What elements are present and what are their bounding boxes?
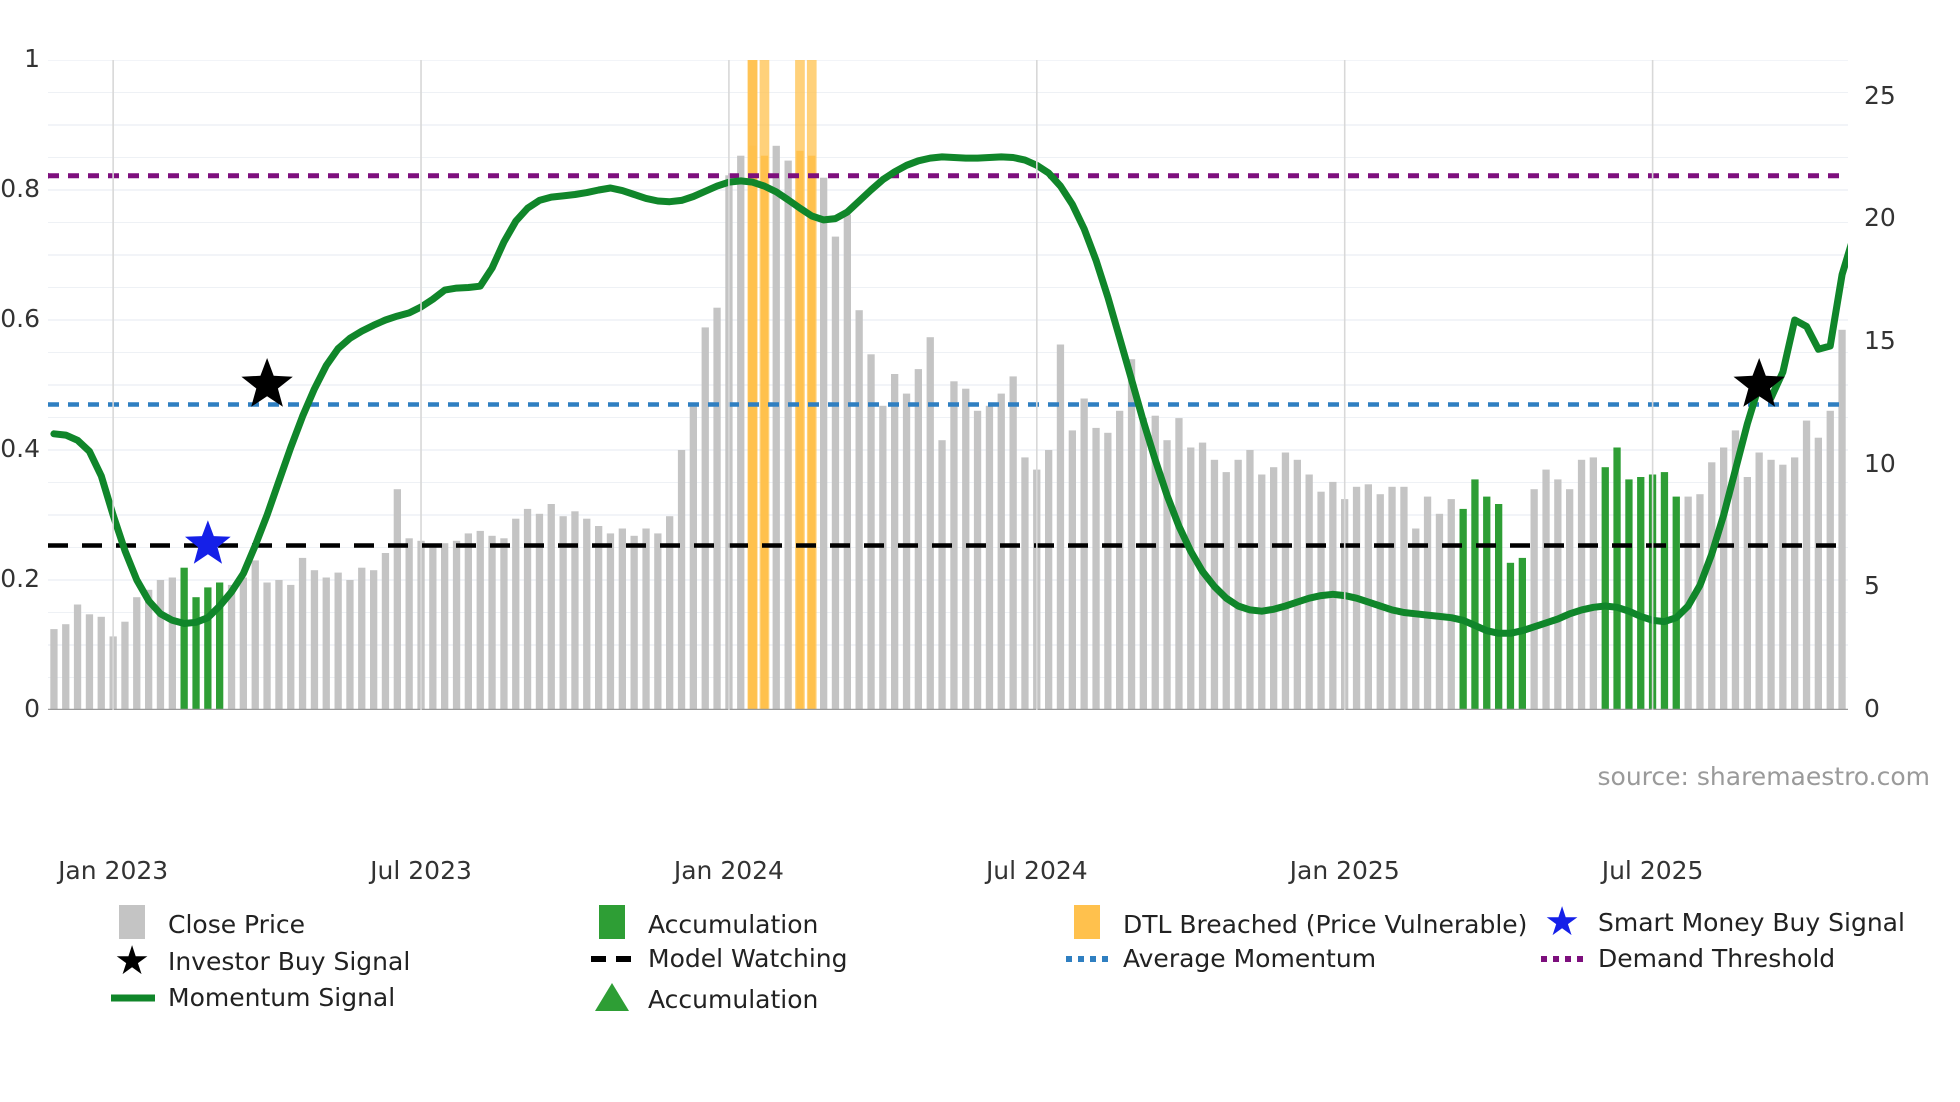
- close-price-bar: [86, 614, 93, 710]
- close-price-bar: [1838, 330, 1845, 710]
- accumulation-bar: [204, 587, 211, 710]
- close-price-bar: [524, 509, 531, 710]
- close-price-bar: [1116, 411, 1123, 710]
- close-price-bar: [1708, 462, 1715, 710]
- accumulation-bar: [1661, 472, 1668, 710]
- close-price-bar: [346, 580, 353, 710]
- close-price-bar: [382, 553, 389, 710]
- close-price-bar: [263, 583, 270, 711]
- close-price-bar: [394, 489, 401, 710]
- close-price-bar: [642, 529, 649, 711]
- close-price-bar: [358, 568, 365, 710]
- close-price-bar: [820, 178, 827, 710]
- close-price-bar: [536, 514, 543, 710]
- close-price-bar: [702, 327, 709, 710]
- legend-item-label: Model Watching: [648, 944, 848, 973]
- legend-solid-line-icon: [110, 991, 154, 1005]
- close-price-bar: [1021, 457, 1028, 710]
- close-price-bar: [619, 529, 626, 711]
- close-price-bar: [133, 597, 140, 710]
- legend-item[interactable]: Model Watching: [590, 944, 848, 973]
- x-axis-tick-label: Jul 2025: [1595, 856, 1711, 885]
- dtl-breached-bar: [749, 146, 756, 710]
- accumulation-bar: [1471, 479, 1478, 710]
- close-price-bar: [1092, 428, 1099, 710]
- close-price-bar: [607, 533, 614, 710]
- close-price-bar: [1306, 475, 1313, 711]
- dtl-breached-bar: [808, 156, 815, 710]
- y-axis-left-tick-label: 0.8: [0, 174, 40, 203]
- close-price-bar: [1756, 453, 1763, 711]
- close-price-bar: [631, 536, 638, 710]
- close-price-bar: [287, 585, 294, 710]
- close-price-bar: [1081, 399, 1088, 711]
- legend-dashed-line-icon: [590, 952, 634, 966]
- x-axis-tick-label: Jan 2024: [671, 856, 787, 885]
- close-price-bar: [903, 394, 910, 710]
- chart-legend: Close PriceAccumulationDTL Breached (Pri…: [0, 905, 1960, 1065]
- close-price-bar: [1815, 438, 1822, 710]
- legend-item-label: Momentum Signal: [168, 983, 395, 1012]
- close-price-bar: [1531, 489, 1538, 710]
- legend-square-icon: [590, 905, 634, 943]
- close-price-bar: [62, 624, 69, 710]
- close-price-bar: [252, 560, 259, 710]
- close-price-bar: [1791, 457, 1798, 710]
- close-price-bar: [311, 570, 318, 710]
- close-price-bar: [867, 354, 874, 710]
- close-price-bar: [477, 531, 484, 710]
- x-axis-tick-label: Jan 2023: [55, 856, 171, 885]
- close-price-bar: [1057, 345, 1064, 711]
- close-price-bar: [169, 578, 176, 711]
- accumulation-bar: [1673, 497, 1680, 710]
- accumulation-bar: [181, 568, 188, 710]
- legend-item-label: Accumulation: [648, 910, 818, 939]
- plot-area: [48, 60, 1848, 710]
- close-price-bar: [1175, 418, 1182, 710]
- close-price-bar: [832, 237, 839, 710]
- close-price-bar: [1448, 499, 1455, 710]
- close-price-bar: [1400, 487, 1407, 710]
- close-price-bar: [785, 161, 792, 710]
- close-price-bar: [1187, 448, 1194, 711]
- close-price-bar: [1282, 453, 1289, 711]
- close-price-bar: [1767, 460, 1774, 710]
- close-price-bar: [844, 215, 851, 711]
- close-price-bar: [429, 546, 436, 710]
- close-price-bar: [1779, 465, 1786, 710]
- accumulation-bar: [1602, 467, 1609, 710]
- close-price-bar: [1045, 450, 1052, 710]
- y-axis-right-tick-label: 10: [1864, 449, 1896, 478]
- chart-page: 00.20.40.60.81 0510152025 Jan 2023Jul 20…: [0, 0, 1960, 1102]
- close-price-bar: [1128, 359, 1135, 710]
- close-price-bar: [1246, 450, 1253, 710]
- close-price-bar: [879, 406, 886, 710]
- accumulation-bar: [1613, 448, 1620, 711]
- close-price-bar: [1010, 376, 1017, 710]
- legend-item[interactable]: ★Investor Buy Signal: [110, 944, 410, 978]
- close-price-bar: [654, 533, 661, 710]
- close-price-bar: [1803, 421, 1810, 710]
- close-price-bar: [571, 511, 578, 710]
- close-price-bar: [275, 580, 282, 710]
- close-price-bar: [1140, 418, 1147, 710]
- close-price-bar: [1578, 460, 1585, 710]
- legend-item[interactable]: Demand Threshold: [1540, 944, 1835, 973]
- close-price-bar: [891, 374, 898, 710]
- investor-buy-signal-star: [241, 358, 292, 407]
- close-price-bar: [1388, 487, 1395, 710]
- close-price-bar: [335, 573, 342, 710]
- close-price-bar: [74, 605, 81, 711]
- close-price-bar: [1365, 484, 1372, 710]
- close-price-bar: [1696, 494, 1703, 710]
- legend-item-label: Accumulation: [648, 985, 818, 1014]
- legend-item-label: Close Price: [168, 910, 305, 939]
- legend-item-label: Demand Threshold: [1598, 944, 1835, 973]
- close-price-bar: [228, 585, 235, 710]
- close-price-bar: [1744, 477, 1751, 710]
- close-price-bar: [1294, 460, 1301, 710]
- legend-item[interactable]: Average Momentum: [1065, 944, 1376, 973]
- demand-threshold-marker-arrow: [48, 158, 52, 194]
- close-price-bar: [1827, 411, 1834, 710]
- y-axis-left-tick-label: 1: [0, 44, 40, 73]
- legend-item[interactable]: Accumulation: [590, 905, 818, 943]
- close-price-bar: [856, 310, 863, 710]
- y-axis-left-tick-label: 0.4: [0, 434, 40, 463]
- accumulation-bar: [1495, 504, 1502, 710]
- x-axis-tick-label: Jul 2023: [363, 856, 479, 885]
- close-price-bar: [678, 450, 685, 710]
- legend-square-icon: [1065, 905, 1109, 943]
- dtl-breached-bar: [796, 151, 803, 710]
- legend-star-icon: ★: [110, 944, 154, 978]
- close-price-bar: [453, 541, 460, 710]
- close-price-bar: [583, 519, 590, 710]
- y-axis-right-tick-label: 5: [1864, 571, 1880, 600]
- close-price-bar: [488, 536, 495, 710]
- close-price-bar: [548, 504, 555, 710]
- legend-item[interactable]: DTL Breached (Price Vulnerable): [1065, 905, 1527, 943]
- close-price-bar: [1720, 448, 1727, 711]
- close-price-bar: [986, 406, 993, 710]
- y-axis-right-tick-label: 0: [1864, 694, 1880, 723]
- close-price-bar: [1542, 470, 1549, 710]
- dtl-breached-bar: [761, 156, 768, 710]
- y-axis-right-tick-label: 20: [1864, 203, 1896, 232]
- legend-star-icon: ★: [1540, 905, 1584, 939]
- close-price-bar: [1069, 430, 1076, 710]
- close-price-bar: [737, 156, 744, 710]
- close-price-bar: [98, 617, 105, 710]
- x-axis-tick-label: Jul 2024: [979, 856, 1095, 885]
- close-price-bar: [595, 526, 602, 710]
- y-axis-right-tick-label: 25: [1864, 81, 1896, 110]
- close-price-bar: [240, 578, 247, 711]
- legend-item-label: Smart Money Buy Signal: [1598, 908, 1905, 937]
- close-price-bar: [121, 622, 128, 710]
- close-price-bar: [1566, 489, 1573, 710]
- accumulation-bar: [1460, 509, 1467, 710]
- legend-item-label: Average Momentum: [1123, 944, 1376, 973]
- close-price-bar: [512, 519, 519, 710]
- close-price-bar: [406, 538, 413, 710]
- smart-money-buy-signal-star: [185, 520, 231, 563]
- close-price-bar: [1424, 497, 1431, 710]
- legend-item-label: Investor Buy Signal: [168, 947, 410, 976]
- y-axis-right-tick-label: 15: [1864, 326, 1896, 355]
- source-attribution: source: sharemaestro.com: [1598, 762, 1931, 791]
- close-price-bar: [465, 533, 472, 710]
- legend-item[interactable]: Accumulation: [590, 983, 818, 1015]
- close-price-bar: [50, 629, 57, 710]
- x-axis-tick-label: Jan 2025: [1287, 856, 1403, 885]
- investor-buy-signal-star: [1734, 358, 1785, 407]
- close-price-bar: [1317, 492, 1324, 710]
- close-price-bar: [1436, 514, 1443, 710]
- close-price-bar: [998, 394, 1005, 710]
- y-axis-left-tick-label: 0.2: [0, 564, 40, 593]
- close-price-bar: [1235, 460, 1242, 710]
- close-price-bar: [1258, 475, 1265, 711]
- close-price-bar: [323, 578, 330, 711]
- legend-item[interactable]: ★Smart Money Buy Signal: [1540, 905, 1905, 939]
- close-price-bar: [962, 389, 969, 710]
- close-price-bar: [713, 308, 720, 710]
- legend-item-label: DTL Breached (Price Vulnerable): [1123, 910, 1527, 939]
- close-price-bar: [1104, 433, 1111, 710]
- close-price-bar: [773, 146, 780, 710]
- close-price-bar: [299, 558, 306, 710]
- close-price-bar: [915, 369, 922, 710]
- accumulation-bar: [1637, 477, 1644, 710]
- close-price-bar: [1554, 479, 1561, 710]
- legend-triangle-icon: [590, 983, 634, 1015]
- legend-dotted-line-icon: [1065, 952, 1109, 966]
- close-price-bar: [1270, 467, 1277, 710]
- close-price-bar: [500, 538, 507, 710]
- close-price-bar: [938, 440, 945, 710]
- y-axis-left-tick-label: 0: [0, 694, 40, 723]
- accumulation-bar: [192, 597, 199, 710]
- close-price-bar: [441, 543, 448, 710]
- legend-item[interactable]: Momentum Signal: [110, 983, 395, 1012]
- accumulation-bar: [1625, 479, 1632, 710]
- y-axis-left-tick-label: 0.6: [0, 304, 40, 333]
- close-price-bar: [1412, 529, 1419, 711]
- chart-canvas: [48, 60, 1848, 710]
- close-price-bar: [974, 411, 981, 710]
- close-price-bar: [1590, 457, 1597, 710]
- close-price-bar: [927, 337, 934, 710]
- accumulation-bar: [1483, 497, 1490, 710]
- close-price-bar: [157, 580, 164, 710]
- close-price-bar: [690, 403, 697, 710]
- close-price-bar: [370, 570, 377, 710]
- legend-dotted-line-icon: [1540, 952, 1584, 966]
